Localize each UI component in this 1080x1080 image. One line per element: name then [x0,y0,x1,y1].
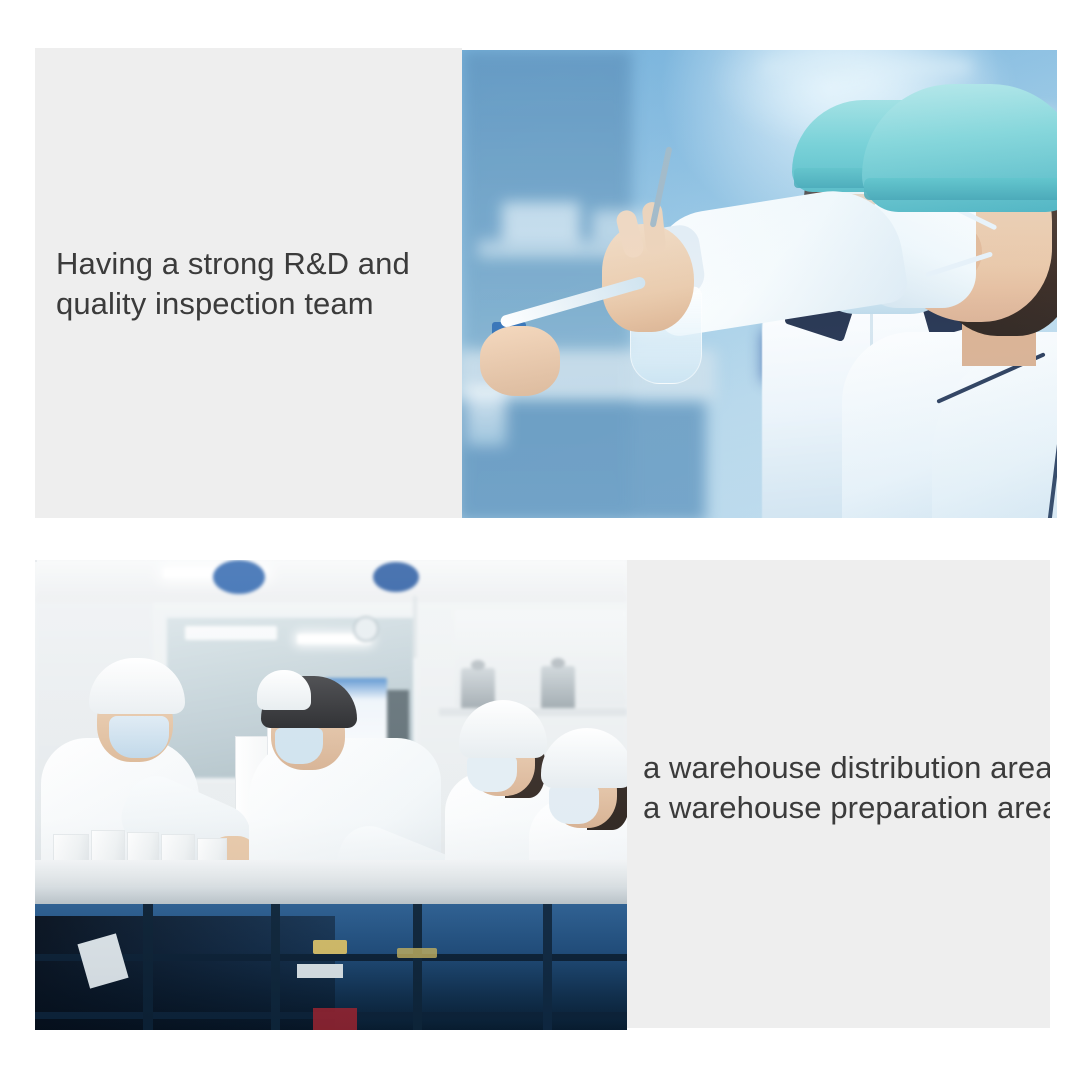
warehouse-packing-area-photo [35,560,627,1030]
banner-canvas: Having a strong R&D and quality inspecti… [0,0,1080,1080]
warehouse-caption-line-1: a warehouse distribution area [643,748,1050,788]
lab-rnd-quality-inspection-photo [462,50,1057,518]
rnd-caption-line-1: Having a strong R&D and [56,244,410,284]
warehouse-caption: a warehouse distribution area a warehous… [643,748,1050,827]
warehouse-caption-panel: a warehouse distribution area a warehous… [627,560,1050,1028]
rnd-caption-line-2: quality inspection team [56,284,410,324]
rnd-caption: Having a strong R&D and quality inspecti… [56,244,410,323]
rnd-caption-panel: Having a strong R&D and quality inspecti… [35,48,462,518]
warehouse-caption-line-2: a warehouse preparation area [643,788,1050,828]
